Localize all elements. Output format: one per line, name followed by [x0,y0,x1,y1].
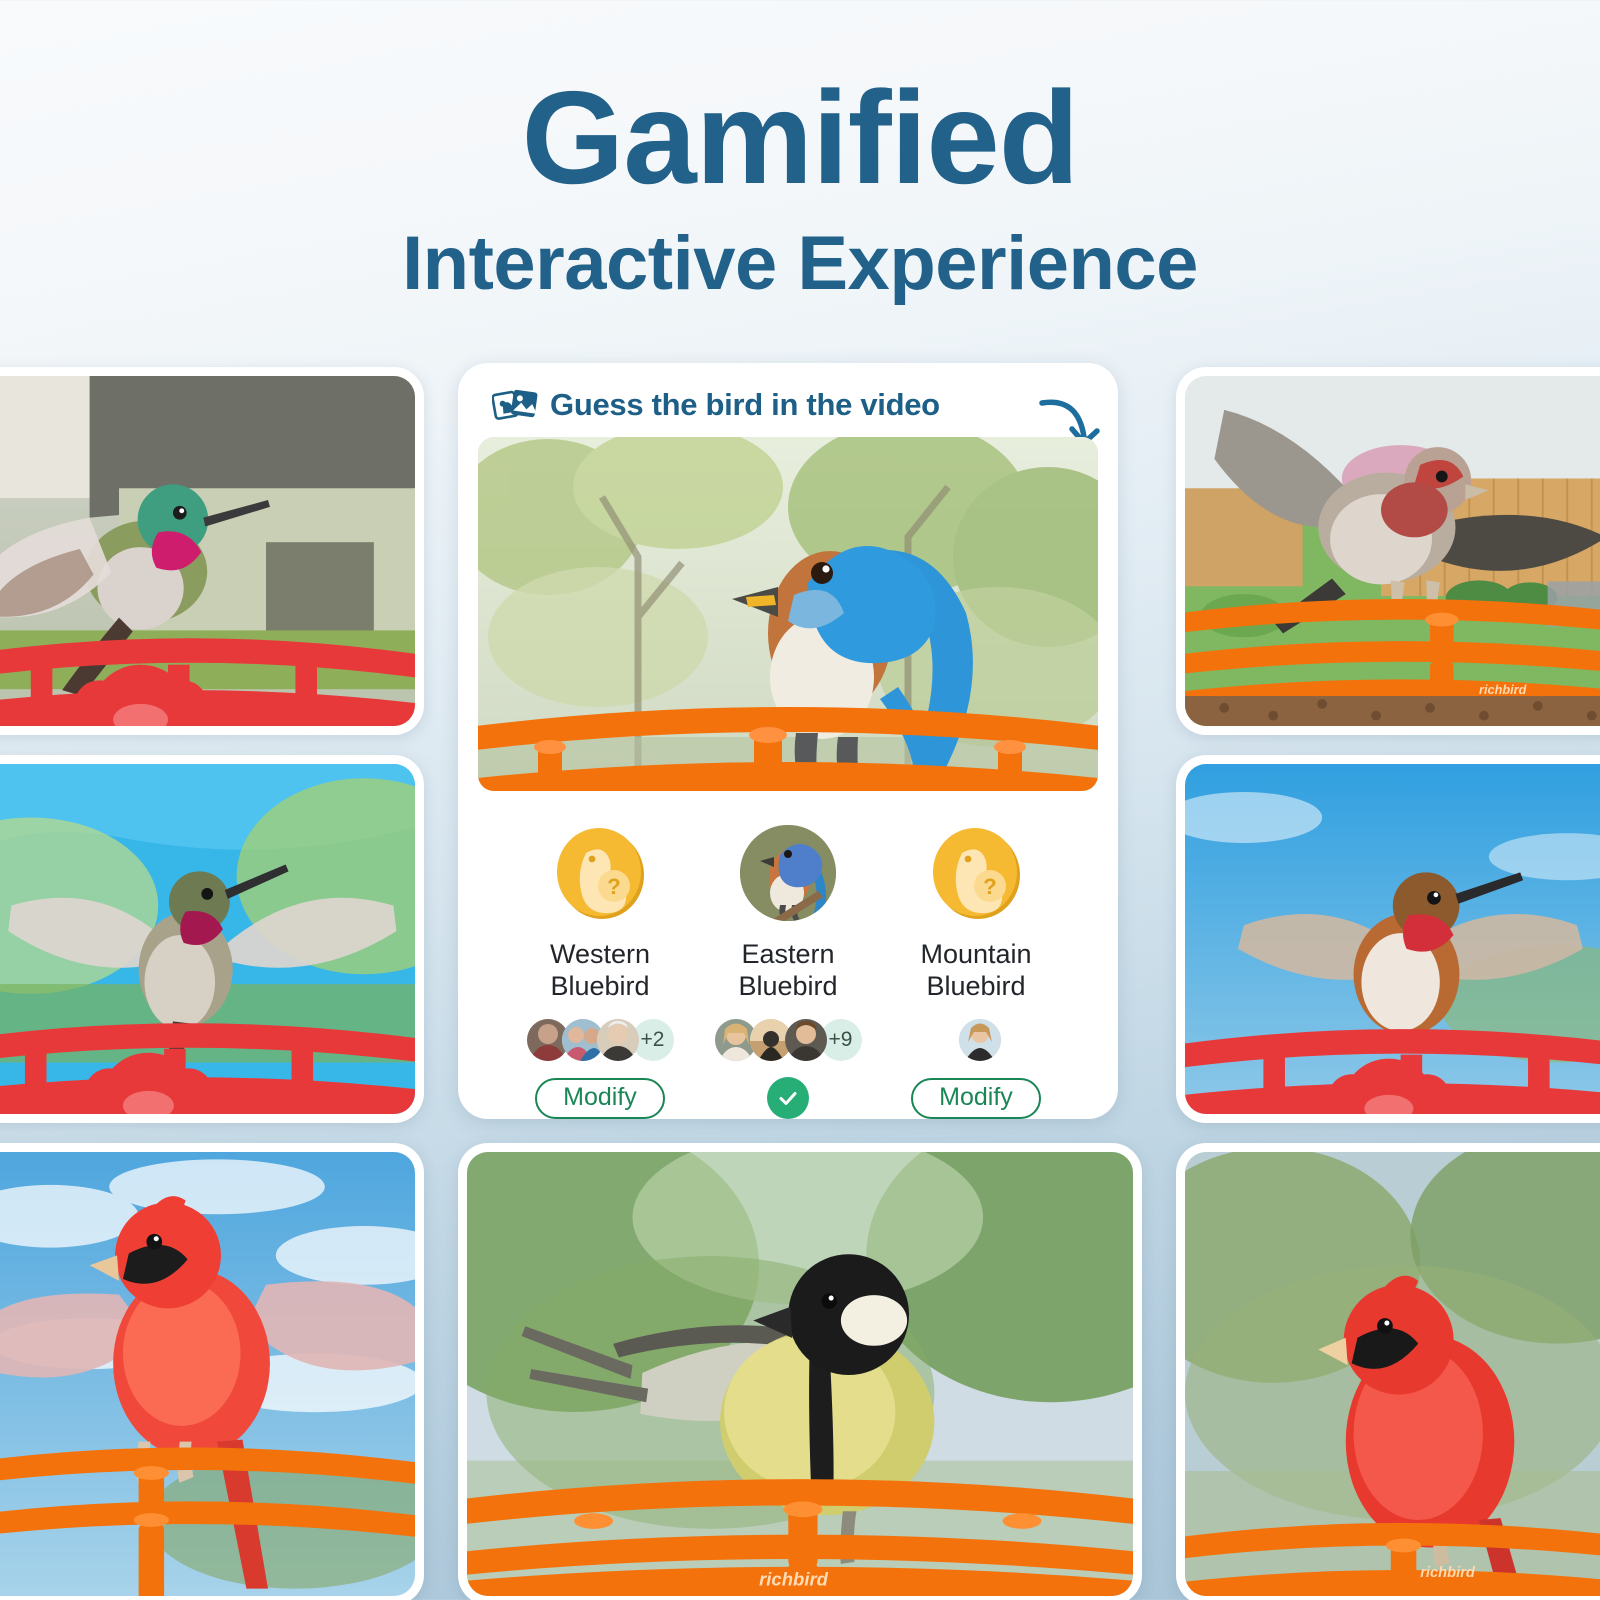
option-action: Modify [911,1076,1041,1120]
tile-image [0,764,415,1114]
option-western-bluebird[interactable]: ? Western Bluebird +2 Modify [512,825,688,1120]
bird-video-player[interactable] [478,437,1098,791]
photo-tile-hummingbird-annas[interactable] [0,755,424,1123]
check-icon [776,1086,800,1110]
feeder-brand-text: richbird [759,1568,829,1589]
option-action: Modify [535,1076,665,1120]
page-subtitle: Interactive Experience [0,226,1600,302]
page-header: Gamified Interactive Experience [0,0,1600,355]
voter-avatars[interactable]: +9 [715,1018,862,1062]
tile-image [0,376,415,726]
option-action [767,1076,809,1120]
photo-tile-cardinal-perched[interactable]: richbird [1176,1143,1600,1600]
avatar [597,1019,639,1061]
bird-options-row: ? Western Bluebird +2 Modify [478,791,1098,1120]
tile-image: richbird [1185,376,1600,726]
guess-the-bird-card: Guess the bird in the video [458,363,1118,1119]
coin-question-icon: ? [928,825,1024,921]
photo-tile-hummingbird-broadtailed[interactable] [0,367,424,735]
tile-image: richbird [467,1152,1133,1596]
modify-button-western[interactable]: Modify [535,1078,665,1119]
card-header: Guess the bird in the video [478,381,1098,429]
option-label: Mountain Bluebird [920,939,1031,1002]
avatar [785,1019,827,1061]
photo-tile-house-finch[interactable]: richbird [1176,367,1600,735]
feeder-brand-text: richbird [1479,682,1527,697]
tile-image: richbird [1185,1152,1600,1596]
svg-text:?: ? [983,874,996,899]
voter-avatars[interactable]: +2 [527,1018,674,1062]
photo-tile-cardinal-flight[interactable] [0,1143,424,1600]
voter-avatars[interactable] [959,1018,994,1062]
selected-check-badge[interactable] [767,1077,809,1119]
coin-question-icon: ? [552,825,648,921]
tile-image [0,1152,415,1596]
page-title: Gamified [0,72,1600,204]
option-label: Western Bluebird [550,939,650,1002]
avatar [959,1019,1001,1061]
photo-tile-hummingbird-rufous[interactable] [1176,755,1600,1123]
modify-button-mountain[interactable]: Modify [911,1078,1041,1119]
option-eastern-bluebird[interactable]: Eastern Bluebird +9 [700,825,876,1120]
feeder-brand-text: richbird [1420,1565,1476,1581]
bird-photo-thumb [740,825,836,921]
photo-cards-icon [492,387,538,423]
option-label: Eastern Bluebird [738,939,837,1002]
card-title: Guess the bird in the video [550,387,940,423]
photo-tile-great-tit[interactable]: richbird [458,1143,1142,1600]
option-mountain-bluebird[interactable]: ? Mountain Bluebird Modify [888,825,1064,1120]
tile-image [1185,764,1600,1114]
svg-text:?: ? [607,874,620,899]
